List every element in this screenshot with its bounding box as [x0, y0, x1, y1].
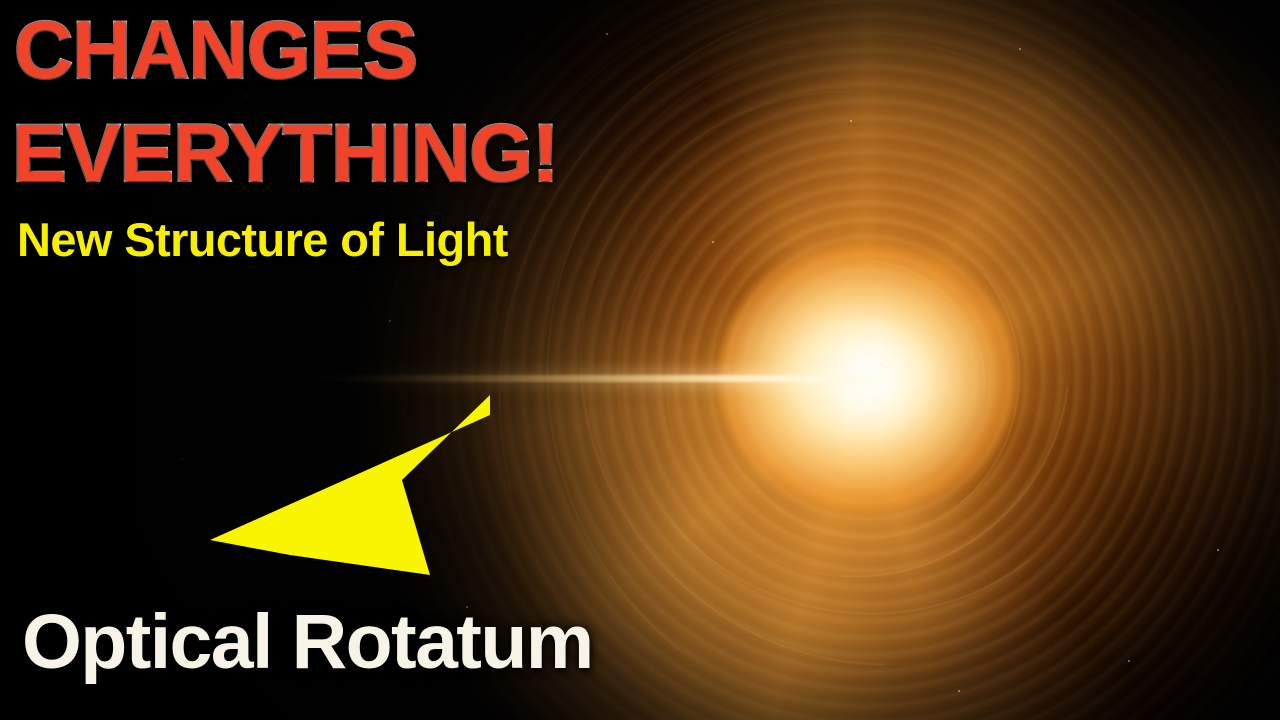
light-ray	[300, 375, 880, 382]
star-speck	[181, 458, 183, 460]
star-speck	[1019, 48, 1021, 50]
star-speck	[958, 690, 960, 692]
vortex-arc	[586, 97, 1151, 659]
headline-line-1: CHANGES	[14, 10, 417, 92]
star-speck	[712, 241, 714, 243]
vortex-core-glow	[718, 243, 1018, 513]
vortex-core-hotspot	[808, 324, 928, 432]
headline-line-2: EVERYTHING!	[12, 113, 558, 195]
star-speck	[606, 33, 608, 35]
vortex-arc	[767, 281, 969, 475]
star-speck	[850, 120, 852, 122]
star-speck	[389, 320, 391, 322]
vortex-arc	[503, 0, 1233, 720]
star-speck	[1217, 549, 1219, 551]
arrow-polygon	[210, 395, 490, 575]
vortex-arc	[702, 212, 1033, 544]
light-ray-glow	[330, 370, 890, 388]
vortex-arc	[594, 117, 1143, 639]
vortex-arc	[701, 202, 1036, 554]
star-speck	[1128, 660, 1130, 662]
page-title: Optical Rotatum	[22, 604, 593, 681]
yellow-arrow-icon	[190, 395, 620, 595]
thumbnail-canvas: CHANGES EVERYTHING! New Structure of Lig…	[0, 0, 1280, 720]
subtitle: New Structure of Light	[17, 216, 508, 263]
